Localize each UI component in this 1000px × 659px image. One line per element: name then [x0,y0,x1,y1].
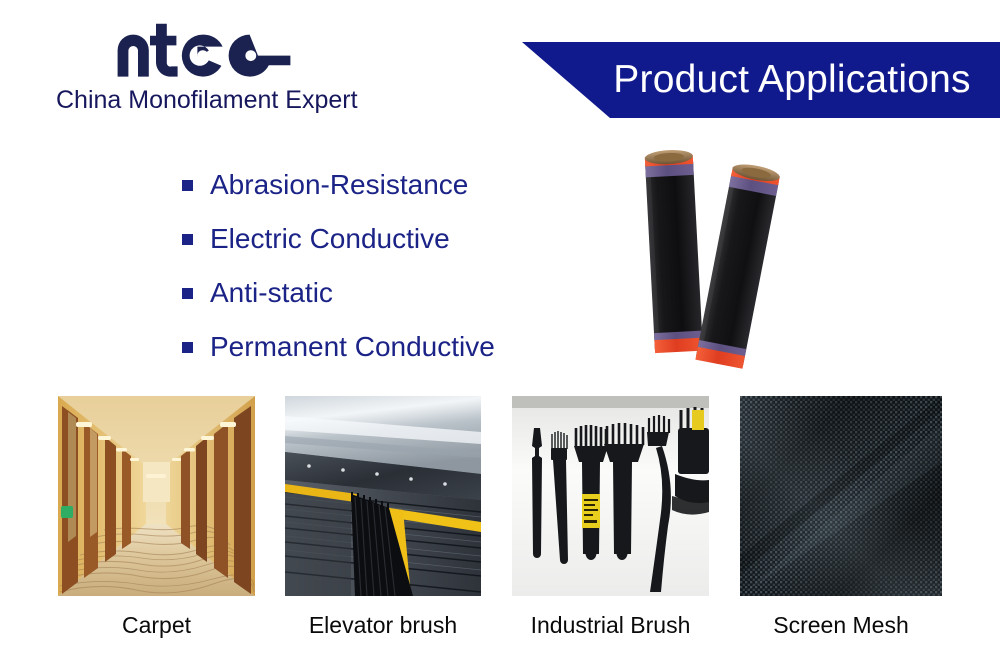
elevator-brush-thumbnail-image [285,396,481,596]
screen-mesh-thumbnail-image [740,396,942,596]
application-caption: Elevator brush [285,612,481,639]
page-title: Product Applications [522,42,1000,118]
industrial-brush-thumbnail-image [512,396,709,596]
feature-item-label: Electric Conductive [210,223,450,255]
application-card-carpet[interactable]: Carpet [58,396,255,639]
brand-tagline: China Monofilament Expert [56,86,476,115]
carpet-thumbnail-image [58,396,255,596]
ntec-logo-icon [114,18,294,80]
square-bullet-icon [182,180,193,191]
application-caption: Carpet [58,612,255,639]
square-bullet-icon [182,288,193,299]
feature-item: Anti-static [182,266,582,320]
feature-item: Abrasion-Resistance [182,158,582,212]
applications-row: Carpet [0,396,1000,646]
application-card-screen-mesh[interactable]: Screen Mesh [740,396,942,639]
feature-item: Permanent Conductive [182,320,582,374]
feature-item: Electric Conductive [182,212,582,266]
square-bullet-icon [182,234,193,245]
slide-header: China Monofilament Expert Product Applic… [0,0,1000,130]
brand-block: China Monofilament Expert [56,18,476,115]
hero-product-photo [622,136,802,376]
feature-item-label: Anti-static [210,277,333,309]
application-caption: Screen Mesh [740,612,942,639]
feature-item-label: Abrasion-Resistance [210,169,468,201]
application-card-elevator-brush[interactable]: Elevator brush [285,396,481,639]
title-banner: Product Applications [522,42,1000,118]
application-card-industrial-brush[interactable]: Industrial Brush [512,396,709,639]
feature-list: Abrasion-Resistance Electric Conductive … [182,158,582,374]
feature-item-label: Permanent Conductive [210,331,495,363]
application-caption: Industrial Brush [512,612,709,639]
square-bullet-icon [182,342,193,353]
